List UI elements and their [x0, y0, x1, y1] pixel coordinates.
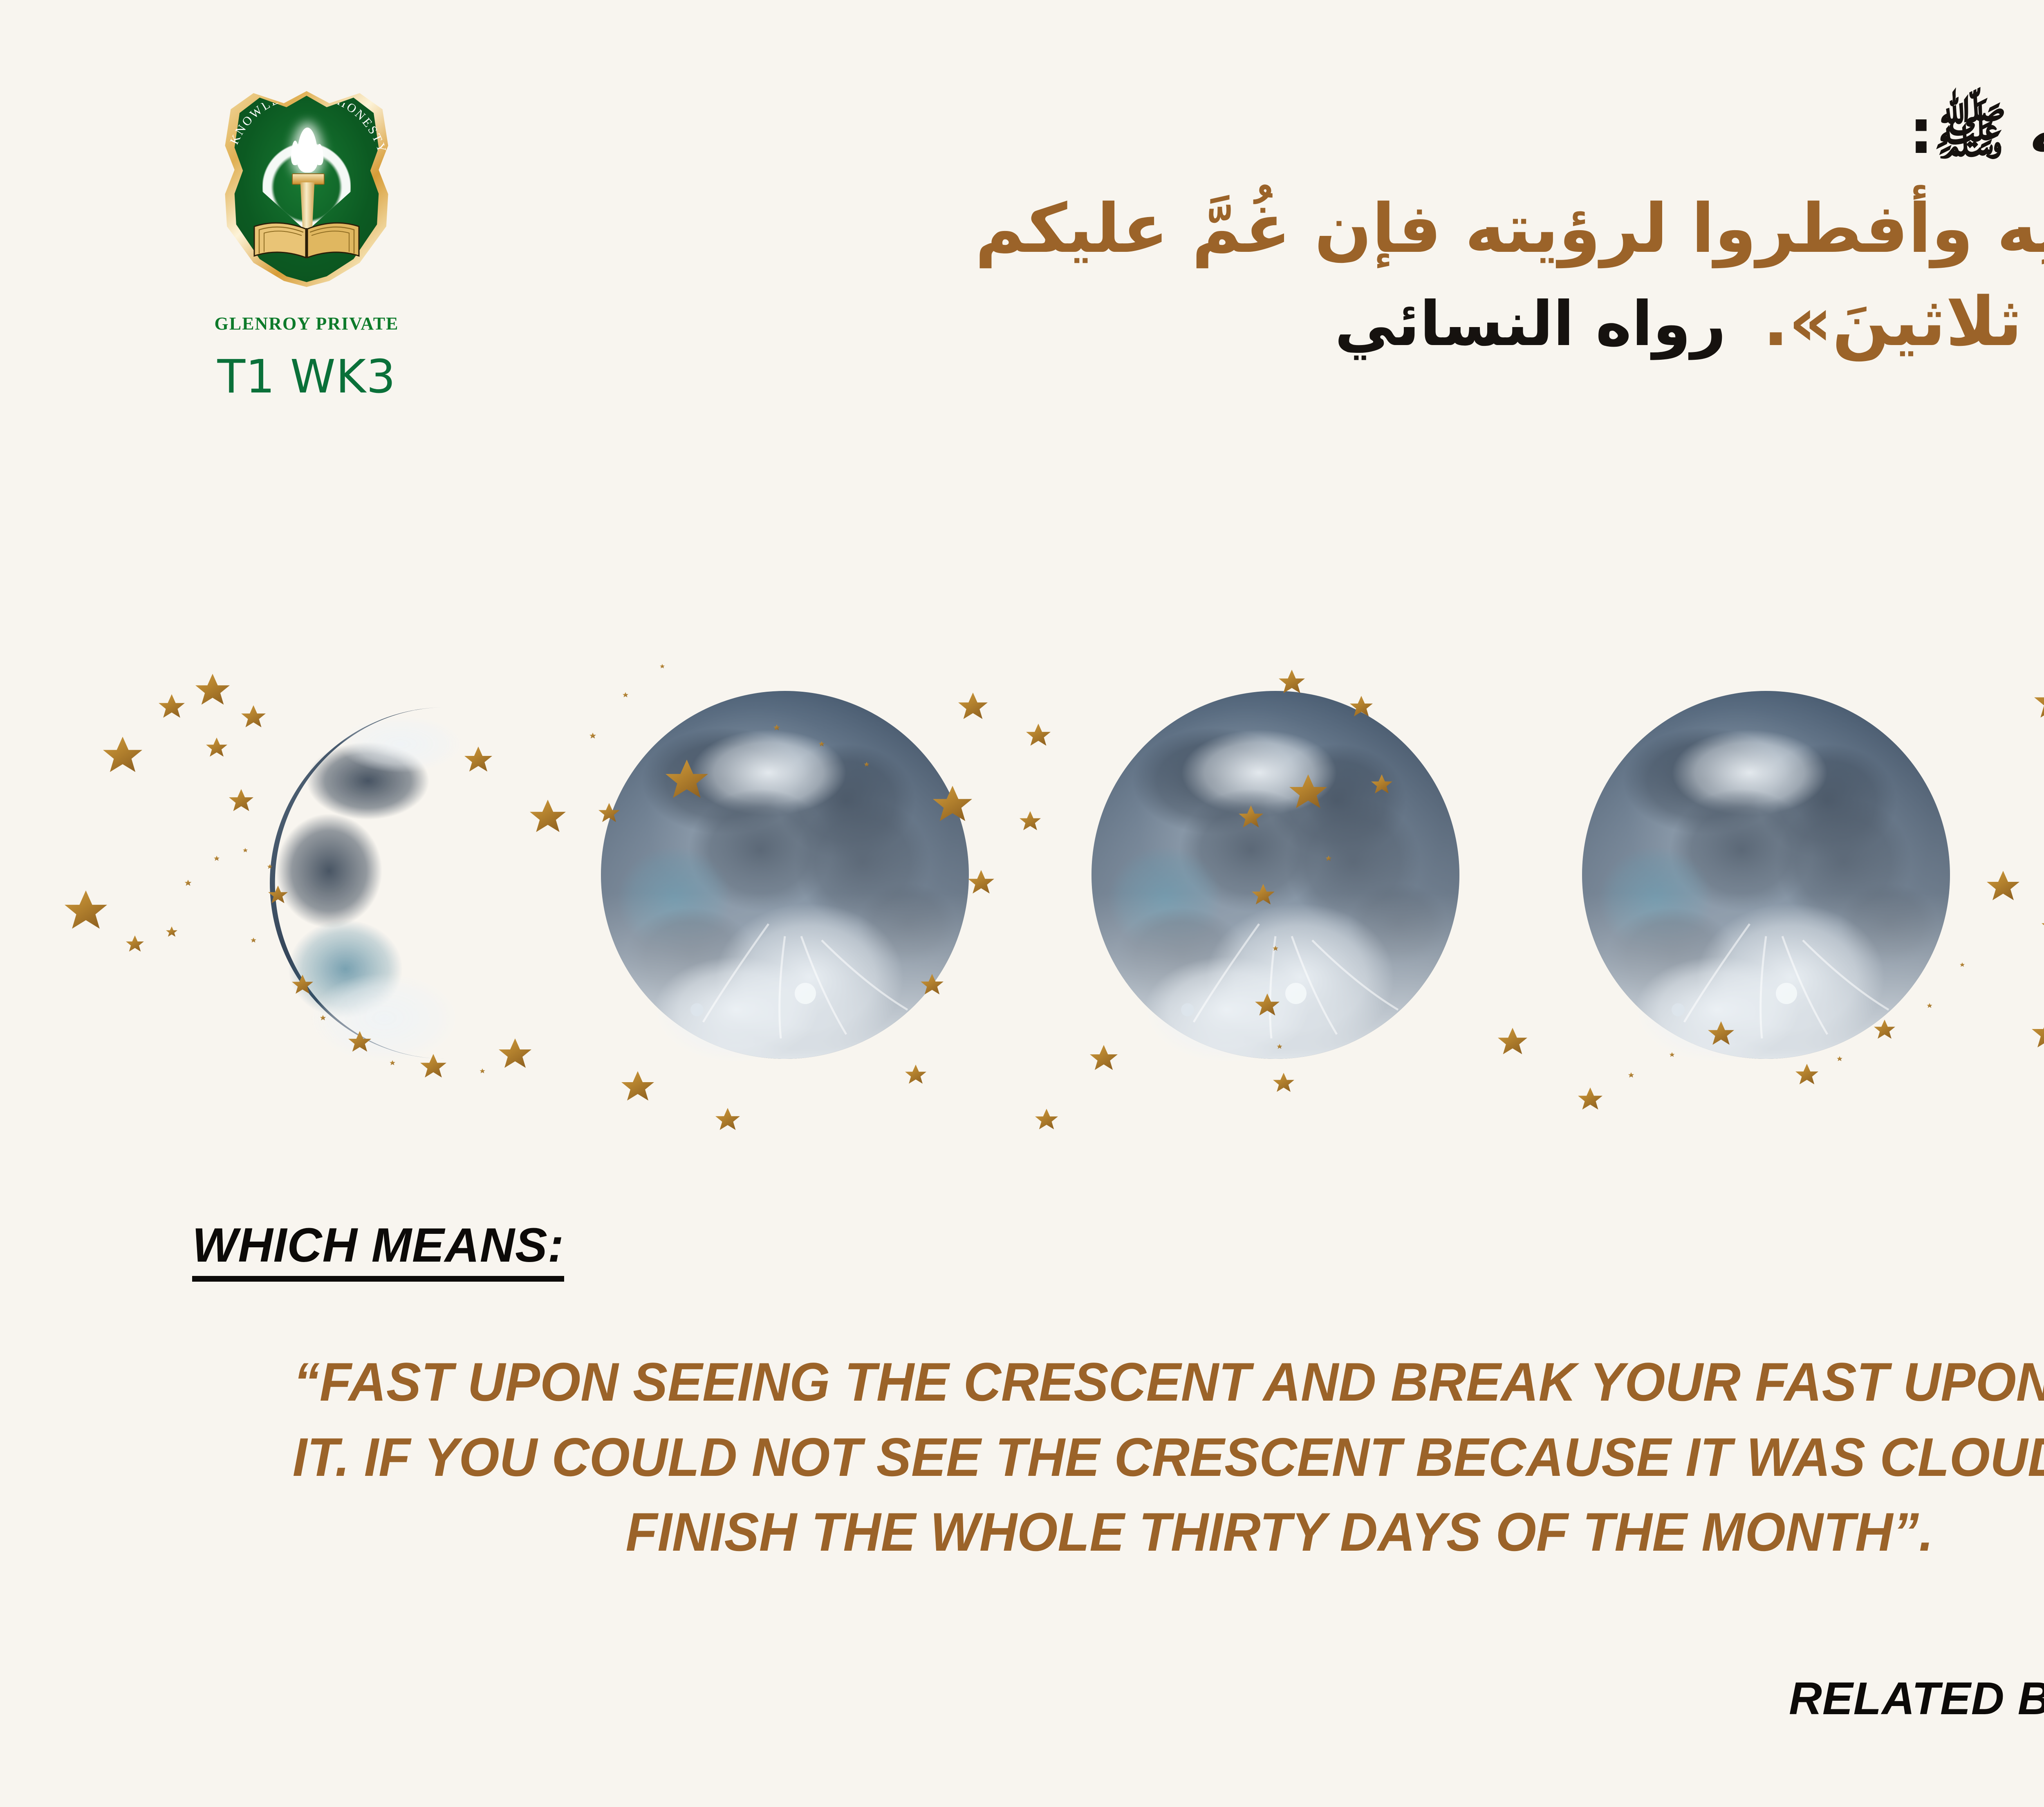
star-icon: [1498, 1028, 1527, 1054]
star-icon: [1279, 670, 1305, 693]
poster-canvas: KNOWLEDGE FAITH HONESTY: [0, 0, 2044, 1807]
star-icon: [229, 789, 253, 811]
star-icon: [621, 1071, 654, 1101]
arabic-intro-line: قال رَسُولُ اللَّه ﷺ:: [580, 94, 2044, 171]
star-icon: [2042, 913, 2044, 940]
arabic-hadith-block: قال رَسُولُ اللَّه ﷺ: «صوموا لرؤيتِه وأف…: [580, 94, 2044, 368]
star-icon: [958, 693, 988, 719]
arabic-hadith-line-1: «صوموا لرؤيتِه وأفطروا لرؤيته فإن غُمَّ …: [580, 183, 2044, 274]
full-moon-right: [1582, 691, 1950, 1063]
star-icon: [1020, 811, 1041, 830]
term-week-label: T1 WK3: [180, 350, 433, 404]
moon-phases-illustration: [0, 572, 2044, 1186]
star-icon: [905, 1065, 926, 1084]
star-icon: [1035, 1109, 1058, 1129]
open-book-icon: [253, 217, 361, 261]
star-icon: [1026, 724, 1051, 746]
translation-line-2: IT. IF YOU COULD NOT SEE THE CRESCENT BE…: [153, 1420, 2044, 1495]
star-icon: [530, 800, 566, 832]
star-icon: [1273, 1073, 1294, 1092]
star-icon: [206, 738, 227, 757]
translation-line-1: “FAST UPON SEEING THE CRESCENT AND BREAK…: [153, 1345, 2044, 1420]
star-icon: [1578, 1087, 1602, 1110]
star-icon: [65, 890, 107, 929]
star-icon: [464, 747, 492, 771]
star-icon: [1874, 1020, 1895, 1039]
translation-block: “FAST UPON SEEING THE CRESCENT AND BREAK…: [153, 1345, 2044, 1570]
translation-line-3: FINISH THE WHOLE THIRTY DAYS OF THE MONT…: [153, 1495, 2044, 1570]
full-moon-center: [1091, 691, 1459, 1063]
arabic-hadith-line-2-text: فأكملوا العدة ثلاثينَ».: [1763, 282, 2044, 361]
attribution-prefix: RELATED BY AN-NAS: [1789, 1673, 2044, 1724]
attribution-line: RELATED BY AN-NASA’YY: [1789, 1672, 2044, 1725]
star-icon: [968, 870, 994, 894]
school-logo-block: KNOWLEDGE FAITH HONESTY: [180, 82, 433, 404]
school-name: GLENROY PRIVATE: [180, 313, 433, 334]
star-icon: [166, 926, 177, 937]
star-icon: [2034, 685, 2044, 717]
arabic-narrator: رواه النسائي: [1335, 289, 1763, 360]
star-icon: [499, 1038, 531, 1068]
star-icon: [1987, 871, 2019, 900]
star-icon: [715, 1108, 740, 1130]
star-icon: [1795, 1064, 1818, 1084]
arabic-hadith-line-2: فأكملوا العدة ثلاثينَ».رواه النسائي: [580, 276, 2044, 368]
waxing-crescent-moon: [270, 707, 462, 1063]
star-icon: [2032, 1018, 2044, 1047]
star-icon: [1090, 1045, 1118, 1070]
star-icon: [126, 935, 144, 952]
star-icon: [241, 705, 266, 727]
which-means-heading: WHICH MEANS:: [192, 1220, 564, 1282]
star-icon: [195, 674, 230, 705]
school-crest: KNOWLEDGE FAITH HONESTY: [200, 82, 413, 311]
star-icon: [159, 694, 185, 718]
star-icon: [103, 737, 142, 772]
full-moon-left: [601, 691, 969, 1063]
